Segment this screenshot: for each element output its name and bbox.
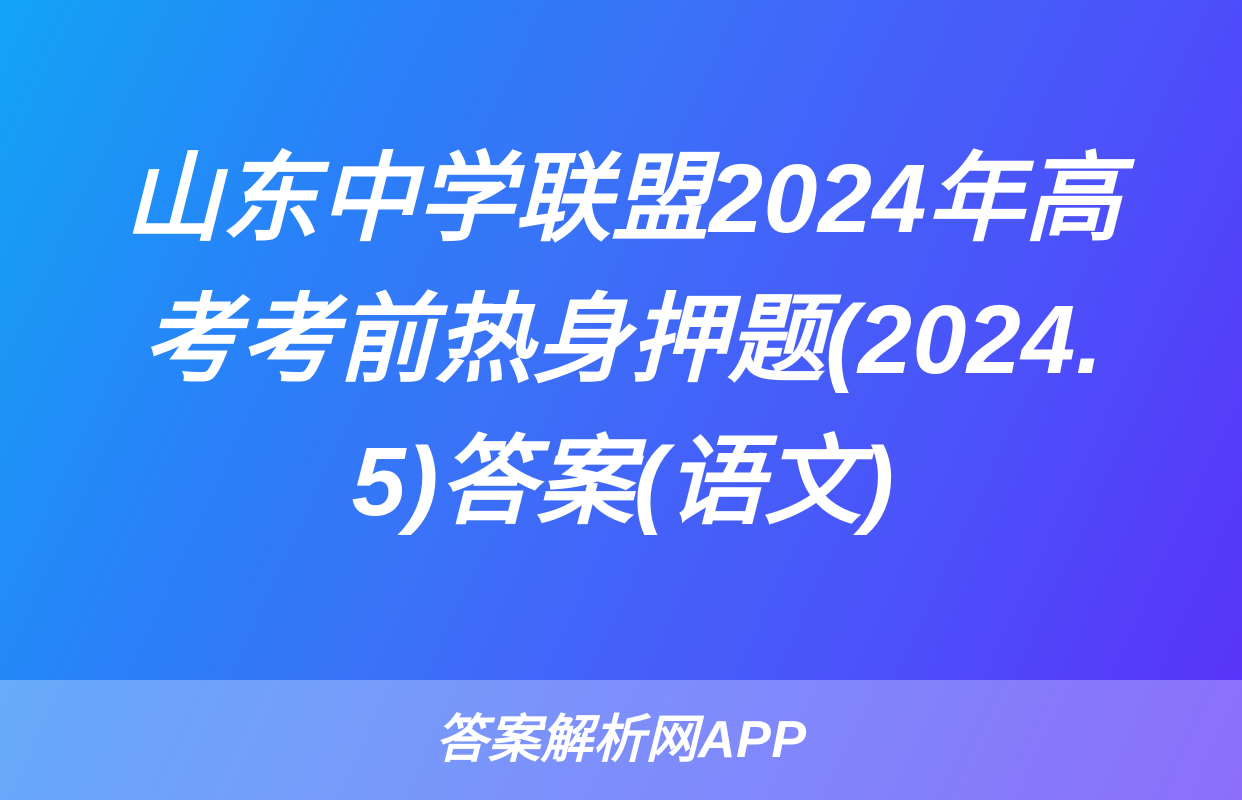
title-area: 山东中学联盟2024年高考考前热身押题(2024.5)答案(语文) [0, 0, 1242, 680]
app-watermark: 答案解析网APP [435, 714, 806, 766]
page-title: 山东中学联盟2024年高考考前热身押题(2024.5)答案(语文) [102, 128, 1144, 553]
poster-canvas: 山东中学联盟2024年高考考前热身押题(2024.5)答案(语文) 答案解析网A… [0, 0, 1242, 800]
watermark-band: 答案解析网APP [0, 680, 1242, 800]
